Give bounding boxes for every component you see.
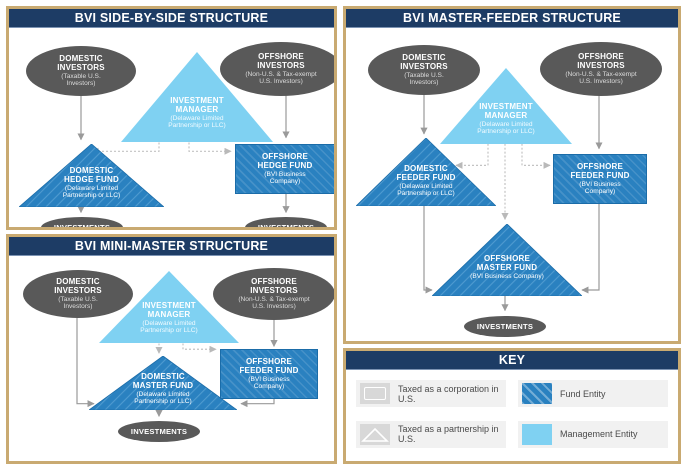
node-label-line2: HEDGE FUND — [258, 161, 313, 170]
panel-title-key: KEY — [346, 351, 678, 370]
key-item-label: Fund Entity — [560, 389, 606, 399]
panel-master-feeder: BVI MASTER-FEEDER STRUCTURE — [343, 6, 681, 344]
node-domestic-investors[interactable]: DOMESTIC INVESTORS (Taxable U.S. Investo… — [23, 270, 133, 318]
node-sublabel-line1: (BVI Business — [248, 376, 289, 384]
node-domestic-feeder-fund[interactable]: DOMESTIC FEEDER FUND (Delaware Limited P… — [356, 138, 496, 206]
node-sublabel-line2: Company) — [270, 178, 300, 186]
node-sublabel-line2: Investors) — [410, 79, 439, 86]
node-sublabel-line1: (Non-U.S. & Tax-exempt — [245, 71, 316, 78]
node-domestic-master-fund[interactable]: DOMESTIC MASTER FUND (Delaware Limited P… — [89, 356, 237, 410]
panel-body-key: Taxed as a corporation in U.S. Fund Enti… — [346, 370, 678, 461]
node-label-line1: OFFSHORE — [246, 357, 292, 366]
node-sublabel-line2: U.S. Investors) — [252, 303, 296, 310]
node-label-line2: INVESTORS — [577, 62, 624, 71]
node-sublabel-line2: Investors) — [67, 80, 96, 87]
node-investments[interactable]: INVESTMENTS — [464, 316, 546, 337]
square-outline-icon — [360, 383, 390, 404]
key-item-management-entity: Management Entity — [518, 421, 668, 448]
node-investments-domestic[interactable]: INVESTMENTS — [41, 217, 123, 227]
panel-key: KEY Taxed as a corporation in U.S. Fund … — [343, 348, 681, 464]
node-offshore-feeder-fund[interactable]: OFFSHORE FEEDER FUND (BVI Business Compa… — [553, 154, 647, 204]
node-sublabel-line1: (Taxable U.S. — [61, 73, 101, 80]
node-offshore-feeder-fund[interactable]: OFFSHORE FEEDER FUND (BVI Business Compa… — [220, 349, 318, 399]
node-investments[interactable]: INVESTMENTS — [118, 421, 200, 442]
node-label-line2: INVESTORS — [257, 62, 304, 71]
panel-mini-master: BVI MINI-MASTER STRUCTURE — [6, 234, 337, 464]
panel-title-mini-master: BVI MINI-MASTER STRUCTURE — [9, 237, 334, 256]
triangle-outline-icon — [360, 424, 390, 445]
node-offshore-investors[interactable]: OFFSHORE INVESTORS (Non-U.S. & Tax-exemp… — [220, 42, 334, 96]
key-item-fund-entity: Fund Entity — [518, 380, 668, 407]
node-sublabel-line2: U.S. Investors) — [259, 78, 303, 85]
key-item-label: Management Entity — [560, 429, 638, 439]
node-label-line2: INVESTORS — [400, 63, 447, 72]
node-sublabel-line2: Company) — [254, 383, 284, 391]
panel-side-by-side: BVI SIDE-BY-SIDE STRUCTURE — [6, 6, 337, 230]
panel-body-master-feeder: DOMESTIC INVESTORS (Taxable U.S. Investo… — [346, 28, 678, 341]
panel-body-mini-master: DOMESTIC INVESTORS (Taxable U.S. Investo… — [9, 256, 334, 461]
panel-body-side-by-side: DOMESTIC INVESTORS (Taxable U.S. Investo… — [9, 28, 334, 227]
node-sublabel-line1: (Taxable U.S. — [404, 72, 444, 79]
node-sublabel-line2: Company) — [585, 188, 615, 196]
key-item-taxed-corporation: Taxed as a corporation in U.S. — [356, 380, 506, 407]
node-domestic-investors[interactable]: DOMESTIC INVESTORS (Taxable U.S. Investo… — [26, 46, 136, 96]
key-grid: Taxed as a corporation in U.S. Fund Enti… — [356, 380, 668, 453]
panel-title-master-feeder: BVI MASTER-FEEDER STRUCTURE — [346, 9, 678, 28]
node-label-line2: INVESTORS — [57, 64, 104, 73]
node-label-line1: OFFSHORE — [262, 152, 308, 161]
node-investments-offshore[interactable]: INVESTMENTS — [245, 217, 327, 227]
node-sublabel-line1: (BVI Business — [579, 181, 620, 189]
node-sublabel-line1: (Taxable U.S. — [58, 296, 98, 303]
node-offshore-master-fund[interactable]: OFFSHORE MASTER FUND (BVI Business Compa… — [432, 224, 582, 296]
node-label-line2: FEEDER FUND — [570, 171, 629, 180]
node-sublabel-line2: Investors) — [64, 303, 93, 310]
node-label-line1: OFFSHORE — [577, 162, 623, 171]
key-item-taxed-partnership: Taxed as a partnership in U.S. — [356, 421, 506, 448]
node-offshore-investors[interactable]: OFFSHORE INVESTORS (Non-U.S. & Tax-exemp… — [213, 268, 334, 320]
node-sublabel-line2: U.S. Investors) — [579, 78, 623, 85]
panel-title-side-by-side: BVI SIDE-BY-SIDE STRUCTURE — [9, 9, 334, 28]
node-label-line2: FEEDER FUND — [239, 366, 298, 375]
node-domestic-hedge-fund[interactable]: DOMESTIC HEDGE FUND (Delaware Limited Pa… — [19, 144, 164, 207]
node-sublabel-line1: (Non-U.S. & Tax-exempt — [238, 296, 309, 303]
node-domestic-investors[interactable]: DOMESTIC INVESTORS (Taxable U.S. Investo… — [368, 45, 480, 95]
node-sublabel-line1: (BVI Business — [264, 171, 305, 179]
node-sublabel-line1: (Non-U.S. & Tax-exempt — [565, 71, 636, 78]
key-item-label: Taxed as a corporation in U.S. — [398, 384, 506, 404]
node-offshore-hedge-fund[interactable]: OFFSHORE HEDGE FUND (BVI Business Compan… — [235, 144, 334, 194]
key-item-label: Taxed as a partnership in U.S. — [398, 424, 506, 444]
node-label-line2: INVESTORS — [54, 287, 101, 296]
diagram-root: BVI SIDE-BY-SIDE STRUCTURE — [0, 0, 687, 470]
node-offshore-investors[interactable]: OFFSHORE INVESTORS (Non-U.S. & Tax-exemp… — [540, 42, 662, 96]
hatched-blue-icon — [522, 383, 552, 404]
light-blue-icon — [522, 424, 552, 445]
node-label-line2: INVESTORS — [250, 287, 297, 296]
